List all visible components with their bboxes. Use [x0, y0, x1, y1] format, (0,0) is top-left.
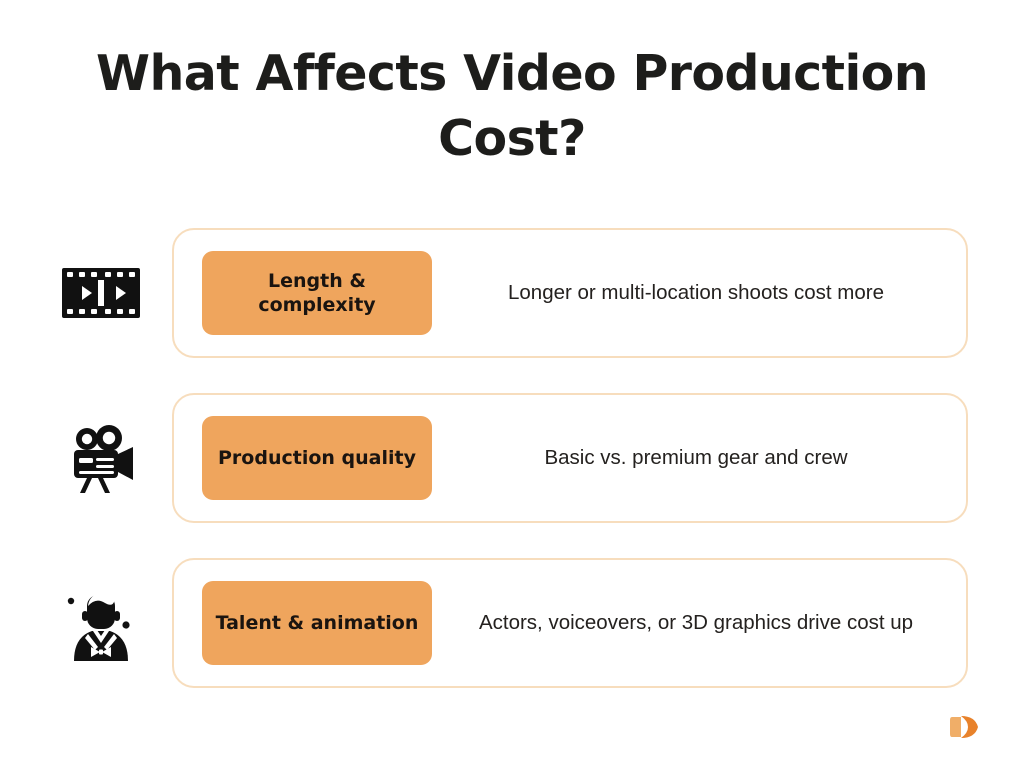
list-item: Talent & animation Actors, voiceovers, o… — [0, 558, 1024, 688]
factor-chip-label: Length & complexity — [202, 251, 432, 335]
factor-description: Actors, voiceovers, or 3D graphics drive… — [432, 608, 966, 638]
factor-chip-label: Production quality — [202, 416, 432, 500]
factor-list: Length & complexity Longer or multi-loca… — [0, 228, 1024, 723]
list-item: Length & complexity Longer or multi-loca… — [0, 228, 1024, 358]
actor-bowtie-icon — [55, 558, 147, 688]
factor-card[interactable]: Production quality Basic vs. premium gea… — [172, 393, 968, 523]
page-title: What Affects Video Production Cost? — [62, 42, 962, 171]
factor-card[interactable]: Length & complexity Longer or multi-loca… — [172, 228, 968, 358]
slide-canvas: What Affects Video Production Cost? — [0, 0, 1024, 768]
brand-play-mark-logo — [948, 712, 990, 742]
film-strip-icon — [55, 228, 147, 358]
factor-description: Longer or multi-location shoots cost mor… — [432, 278, 966, 308]
list-item: Production quality Basic vs. premium gea… — [0, 393, 1024, 523]
movie-camera-icon — [55, 393, 147, 523]
factor-card[interactable]: Talent & animation Actors, voiceovers, o… — [172, 558, 968, 688]
factor-description: Basic vs. premium gear and crew — [432, 443, 966, 473]
factor-chip-label: Talent & animation — [202, 581, 432, 665]
